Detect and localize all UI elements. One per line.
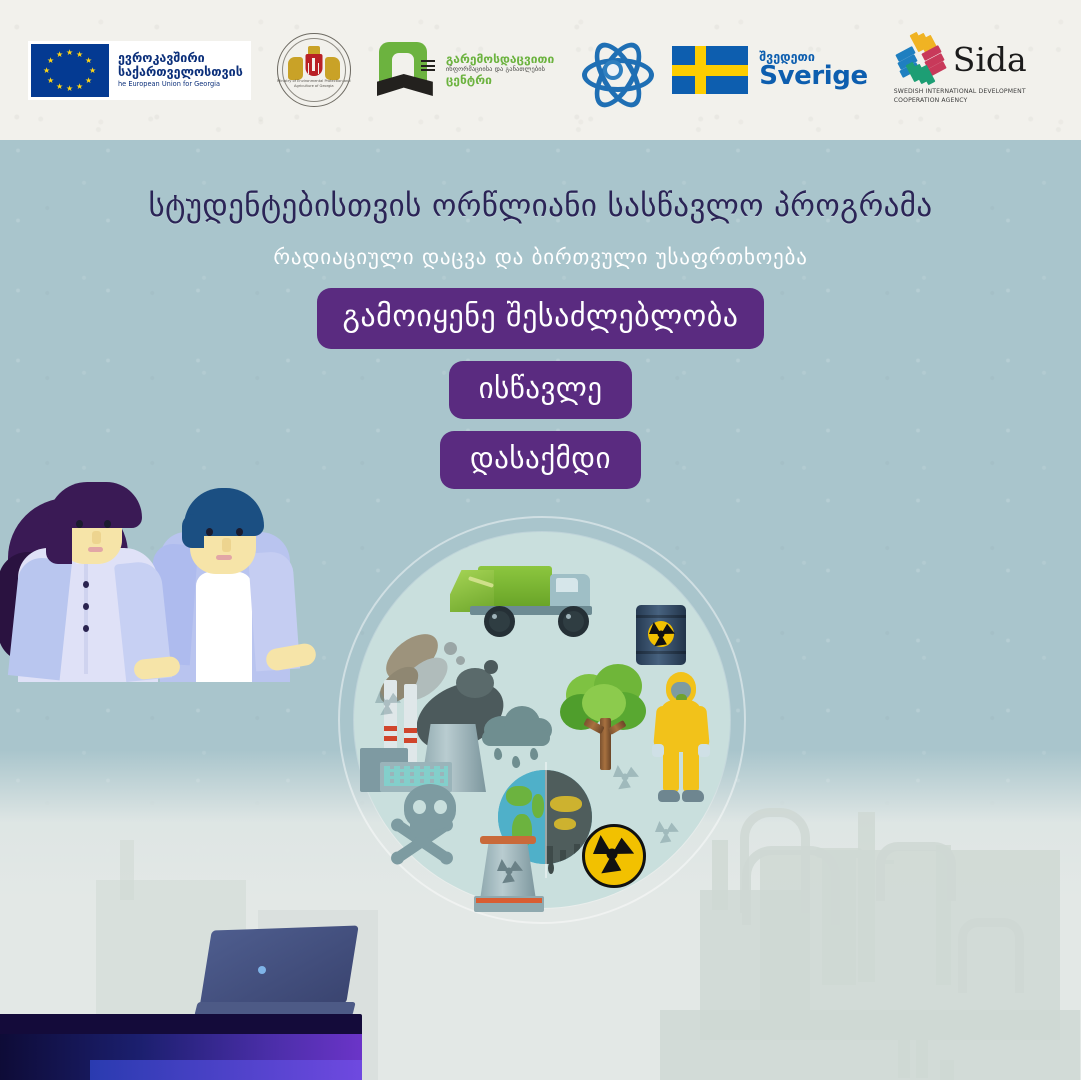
- eu-label-ka-line1: ევროკავშირი: [118, 51, 243, 65]
- eu-label-ka-line2: საქართველოსთვის: [118, 65, 243, 79]
- logo-european-union-for-georgia: ★ ★ ★ ★ ★ ★ ★ ★ ★ ★ ★ ★ ევროკავშირი საქა…: [28, 41, 251, 100]
- seal-caption: Ministry of Environmental Protection and…: [277, 79, 351, 90]
- logo-sida: Sida SWEDISH INTERNATIONAL DEVELOPMENT C…: [894, 34, 1053, 106]
- badge-opportunity[interactable]: გამოიყენე შესაძლებლობა: [317, 288, 765, 349]
- radioactive-barrel-icon: [636, 605, 688, 667]
- badge-study[interactable]: ისწავლე: [449, 361, 633, 419]
- radiation-trefoil-icon: [648, 621, 674, 647]
- sida-mark-icon: [894, 34, 946, 84]
- cooling-tower-icon: [470, 832, 554, 912]
- garbage-truck-icon: [450, 552, 610, 632]
- donor-logo-bar: ★ ★ ★ ★ ★ ★ ★ ★ ★ ★ ★ ★ ევროკავშირი საქა…: [0, 0, 1081, 140]
- tree-icon: [560, 660, 652, 776]
- hazmat-worker-icon: [652, 672, 712, 808]
- logo-sweden-sverige: შვედეთი Sverige: [672, 46, 868, 94]
- atom-icon: [580, 37, 646, 103]
- page-subtitle: რადიაციული დაცვა და ბირთვული უსაფრთხოება: [0, 245, 1081, 269]
- badge-group: გამოიყენე შესაძლებლობა ისწავლე დასაქმდი: [0, 288, 1081, 489]
- georgia-coat-of-arms-icon: Ministry of Environmental Protection and…: [277, 33, 351, 107]
- sida-subtitle: SWEDISH INTERNATIONAL DEVELOPMENT COOPER…: [894, 88, 1053, 106]
- radiation-trefoil-icon: [496, 858, 522, 884]
- radiation-trefoil-icon: [374, 690, 400, 716]
- eu-flag-icon: ★ ★ ★ ★ ★ ★ ★ ★ ★ ★ ★ ★: [31, 44, 109, 97]
- sweden-flag-icon: [672, 46, 748, 94]
- logo-government-of-georgia: Ministry of Environmental Protection and…: [277, 33, 351, 107]
- desk: [0, 1014, 362, 1036]
- sweden-label-en: Sverige: [759, 63, 868, 90]
- radiation-warning-sign-icon: [582, 824, 646, 888]
- logo-atom: [580, 37, 646, 103]
- radiation-trefoil-icon: [654, 820, 678, 844]
- desk-front-panel: [0, 1034, 362, 1080]
- page-title: სტუდენტებისთვის ორწლიანი სასწავლო პროგრა…: [0, 188, 1081, 224]
- radiation-trefoil-icon: [612, 764, 638, 790]
- logo-environmental-information-education-center: გარემოსდაცვითი ინფორმაციისა და განათლები…: [377, 42, 554, 98]
- eiec-label-line3: ცენტრი: [446, 74, 554, 87]
- badge-get-employed[interactable]: დასაქმდი: [440, 431, 641, 489]
- eu-label-en: he European Union for Georgia: [118, 81, 243, 88]
- poster: ★ ★ ★ ★ ★ ★ ★ ★ ★ ★ ★ ★ ევროკავშირი საქა…: [0, 0, 1081, 1080]
- eiec-mark-icon: [377, 42, 439, 98]
- sida-wordmark: Sida: [953, 44, 1027, 75]
- two-students-with-laptop: [0, 760, 420, 1080]
- poster-body: სტუდენტებისთვის ორწლიანი სასწავლო პროგრა…: [0, 140, 1081, 1080]
